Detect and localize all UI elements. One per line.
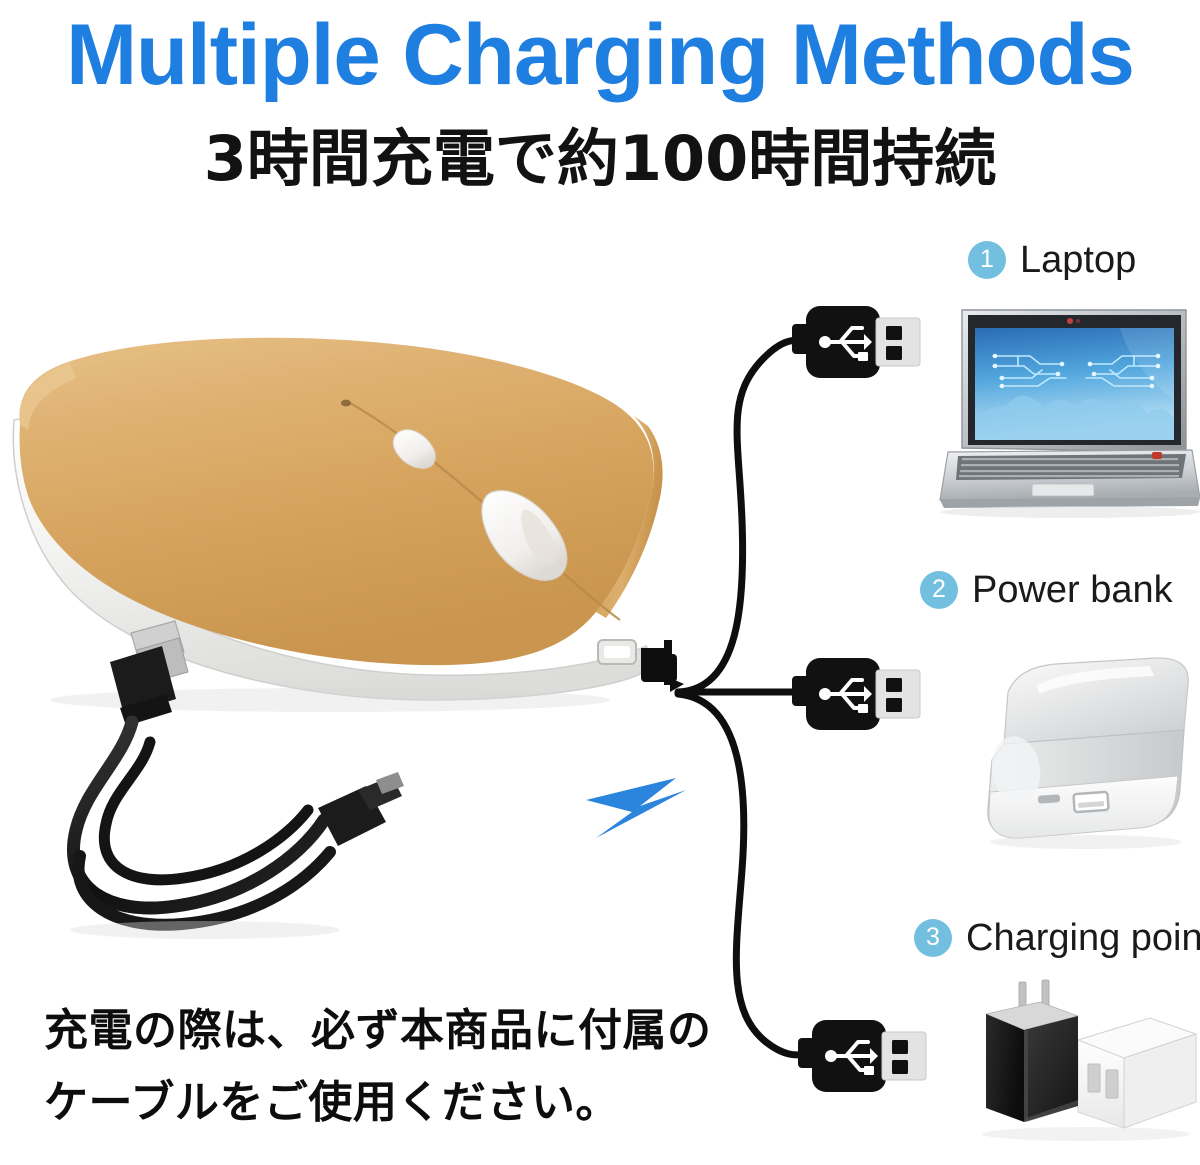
legend-badge-2: 2 (920, 571, 958, 609)
laptop-screen-circuit-left-nodes (993, 354, 1065, 389)
legend-item-laptop: 1 Laptop (968, 240, 1136, 280)
mouse-split-dot (341, 400, 351, 407)
mouse-base (13, 418, 649, 700)
charging-bolt-icon (586, 778, 686, 838)
cable-loop-lower (79, 852, 330, 925)
cable-to-laptop (678, 340, 800, 692)
mouse-charging-port-slot (604, 646, 630, 658)
legend-item-power-bank: 2 Power bank (920, 570, 1173, 610)
legend-label-charging-point: Charging point (966, 918, 1200, 958)
white-charger-top (1078, 1018, 1196, 1058)
usb-trident-icon-2 (826, 680, 866, 708)
black-charger-prong-1 (1019, 982, 1026, 1012)
page-subtitle: 3時間充電で約100時間持続 (0, 122, 1200, 196)
black-charger-edge-light (1024, 1030, 1028, 1122)
laptop-lid (962, 310, 1186, 452)
laptop-camera-icon (1067, 318, 1073, 324)
usb-trident-icon-1 (826, 328, 866, 356)
power-bank-usb-a-port (1073, 792, 1108, 812)
laptop-trackpad (1032, 484, 1094, 496)
legend-badge-1: 1 (968, 241, 1006, 279)
power-bank-front (989, 776, 1178, 838)
charging-point-devices (982, 980, 1196, 1141)
laptop-deck (940, 450, 1200, 500)
legend-label-power-bank: Power bank (972, 570, 1173, 610)
power-bank-top (1004, 658, 1188, 744)
mouse-scroll-wheel-shade (521, 510, 556, 566)
white-charger-usb-port-2 (1106, 1070, 1118, 1098)
power-bank-body (988, 730, 1184, 836)
infographic-page: Multiple Charging Methods 3時間充電で約100時間持続 (0, 0, 1200, 1165)
power-bank-gloss (1036, 666, 1154, 694)
laptop-screen-glare (1120, 328, 1174, 400)
laptop-screen-clouds (975, 396, 1174, 440)
mouse-side-button (393, 430, 435, 469)
laptop-keyboard (956, 454, 1186, 480)
mouse-left-edge (19, 362, 76, 430)
power-bank-shadow (990, 835, 1182, 849)
micro-usb-plug-junction (641, 640, 684, 692)
laptop-screen (975, 328, 1174, 440)
laptop-screen-circuit-right (1086, 356, 1158, 386)
laptop-bezel (968, 315, 1181, 445)
cable-shadow (70, 921, 340, 939)
bottom-note-line-1: 充電の際は、必ず本商品に付属の (44, 995, 764, 1067)
legend-badge-3: 3 (914, 919, 952, 957)
legend-label-laptop: Laptop (1020, 240, 1136, 280)
cable-micro-usb-plug (318, 772, 404, 846)
laptop-screen-circuit-left (993, 356, 1066, 386)
bottom-note-line-2: ケーブルをご使用ください。 (44, 1067, 764, 1139)
mouse-top-shell (19, 338, 653, 665)
laptop-device (940, 310, 1200, 518)
wall-charger-black (986, 980, 1078, 1122)
mouse-shadow (50, 688, 610, 712)
laptop-screen-circuit-right-nodes (1088, 354, 1161, 389)
usb-plug-3 (798, 1020, 926, 1092)
wall-charger-white (1078, 1018, 1196, 1128)
mouse-scroll-wheel (482, 491, 567, 581)
power-bank-micro-usb-port (1038, 794, 1061, 804)
bottom-note: 充電の際は、必ず本商品に付属の ケーブルをご使用ください。 (44, 995, 764, 1139)
mouse-charging-port (598, 640, 636, 664)
black-charger-face (986, 1014, 1024, 1122)
black-charger-bottom-light (1026, 1100, 1078, 1122)
laptop-power-led (1152, 452, 1162, 459)
legend-item-charging-point: 3 Charging point (914, 918, 1200, 958)
black-charger-side (1024, 1016, 1078, 1122)
page-title: Multiple Charging Methods (6, 8, 1194, 102)
mouse-front-lip (596, 416, 663, 618)
laptop-shadow (940, 506, 1200, 518)
cable-loop (73, 722, 324, 908)
wireless-mouse (13, 338, 662, 712)
cable-usb-a-plug (110, 621, 188, 726)
white-charger-usb-port-1 (1088, 1064, 1100, 1092)
cable-harness (678, 340, 806, 1055)
usb-cable-accessory (70, 621, 404, 939)
usb-plug-1 (792, 306, 920, 378)
mouse-button-split (348, 402, 620, 620)
white-charger-face (1078, 1040, 1124, 1128)
laptop-front-edge (940, 498, 1200, 508)
black-charger-top (986, 1002, 1078, 1030)
charger-shadow (982, 1127, 1190, 1141)
white-charger-side (1124, 1034, 1196, 1128)
black-charger-prong-2 (1042, 980, 1049, 1010)
cable-loop-inner (104, 742, 308, 880)
power-bank-device (988, 658, 1189, 849)
power-bank-end-cap (988, 733, 1045, 807)
usb-plug-2 (792, 658, 920, 730)
laptop-keys (959, 458, 1179, 477)
usb-trident-icon-3 (832, 1042, 872, 1070)
